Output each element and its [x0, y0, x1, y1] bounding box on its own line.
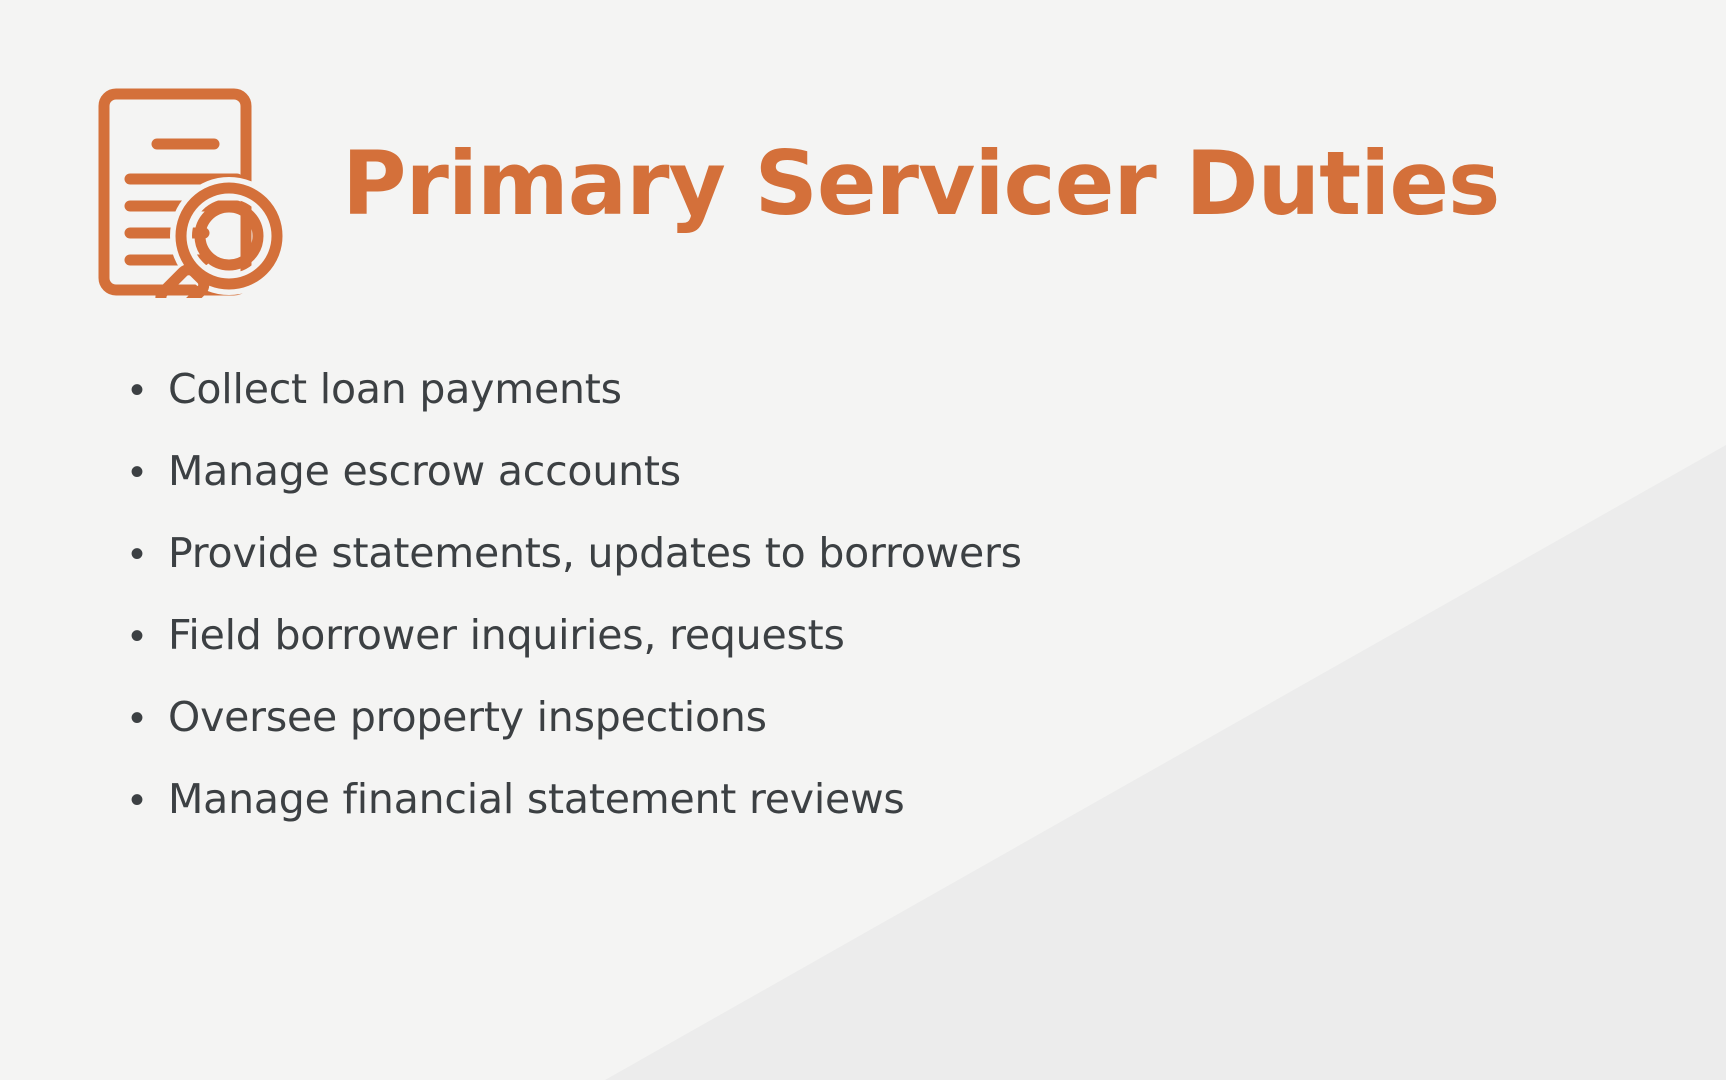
list-item-label: Collect loan payments	[168, 348, 622, 430]
list-item-label: Oversee property inspections	[168, 676, 767, 758]
page-title: Primary Servicer Duties	[342, 140, 1499, 228]
bullet-marker: •	[130, 513, 168, 595]
list-item-label: Manage escrow accounts	[168, 430, 681, 512]
slide-canvas: Primary Servicer Duties • Collect loan p…	[0, 0, 1726, 1080]
duties-list: • Collect loan payments • Manage escrow …	[130, 348, 1430, 840]
bullet-marker: •	[130, 349, 168, 431]
list-item: • Oversee property inspections	[130, 676, 1430, 758]
list-item: • Manage financial statement reviews	[130, 758, 1430, 840]
list-item: • Field borrower inquiries, requests	[130, 594, 1430, 676]
list-item: • Collect loan payments	[130, 348, 1430, 430]
list-item: • Manage escrow accounts	[130, 430, 1430, 512]
bullet-marker: •	[130, 677, 168, 759]
bullet-marker: •	[130, 431, 168, 513]
list-item-label: Manage financial statement reviews	[168, 758, 905, 840]
list-item: • Provide statements, updates to borrowe…	[130, 512, 1430, 594]
list-item-label: Provide statements, updates to borrowers	[168, 512, 1022, 594]
document-magnifier-icon	[96, 86, 300, 298]
bullet-marker: •	[130, 595, 168, 677]
slide-header: Primary Servicer Duties	[96, 86, 1499, 298]
bullet-marker: •	[130, 759, 168, 841]
list-item-label: Field borrower inquiries, requests	[168, 594, 845, 676]
